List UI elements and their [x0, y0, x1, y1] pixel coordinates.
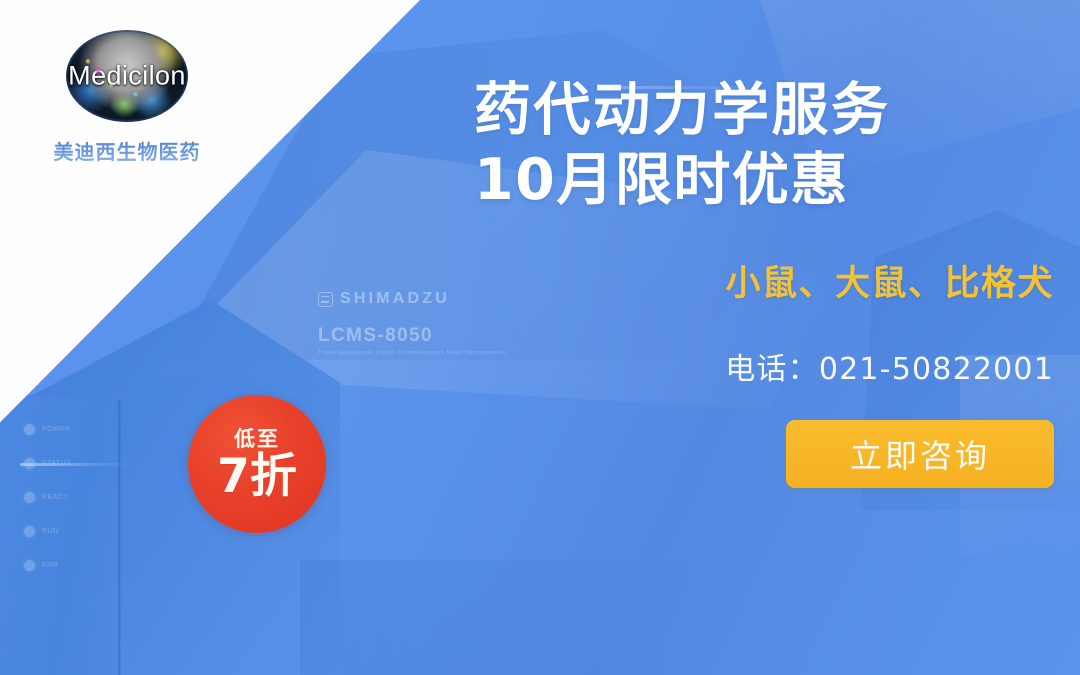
- shimadzu-logo-icon: [318, 292, 333, 307]
- cta-wrapper: 立即咨询: [474, 420, 1054, 488]
- indicator-lamp-2: READY: [24, 492, 68, 503]
- logo-wordmark: Medicilon: [66, 61, 188, 92]
- headline-line-1: 药代动力学服务: [474, 76, 1054, 146]
- phone-line: 电话：021-50822001: [474, 344, 1054, 388]
- discount-badge-top-text: 低至: [234, 429, 280, 450]
- company-name-cn: 美迪西生物医药: [34, 136, 220, 165]
- instrument-brand-name: SHIMADZU: [340, 290, 450, 308]
- species-subline: 小鼠、大鼠、比格犬: [474, 255, 1054, 306]
- lamp-dot-icon: [24, 560, 35, 571]
- lamp-label: STATUS: [42, 460, 71, 467]
- discount-badge-main-text: 7折: [217, 453, 297, 500]
- lamp-label: POWER: [42, 426, 70, 433]
- lamp-dot-icon: [24, 526, 35, 537]
- lamp-label: READY: [42, 494, 68, 501]
- indicator-lamp-1: STATUS: [24, 458, 71, 469]
- lamp-dot-icon: [24, 458, 35, 469]
- promo-banner: POWER STATUS READY RUN ERR SHIMADZU LCMS…: [0, 0, 1080, 675]
- instrument-left-tower: [0, 395, 120, 675]
- discount-badge: 低至 7折: [188, 395, 326, 533]
- promo-copy-block: 药代动力学服务 10月限时优惠 小鼠、大鼠、比格犬 电话：021-5082200…: [474, 76, 1054, 488]
- headline: 药代动力学服务 10月限时优惠: [474, 76, 1054, 215]
- lamp-label: ERR: [42, 562, 58, 569]
- medicilon-logo-icon: Medicilon: [66, 30, 188, 122]
- brand-logo-block: Medicilon 美迪西生物医药: [34, 30, 220, 165]
- lamp-dot-icon: [24, 424, 35, 435]
- instrument-bottom-facet: [300, 560, 720, 675]
- headline-line-2: 10月限时优惠: [474, 146, 1054, 216]
- lamp-label: RUN: [42, 528, 58, 535]
- indicator-lamp-4: ERR: [24, 560, 58, 571]
- indicator-lamp-0: POWER: [24, 424, 70, 435]
- lamp-dot-icon: [24, 492, 35, 503]
- indicator-lamp-3: RUN: [24, 526, 58, 537]
- consult-now-button[interactable]: 立即咨询: [786, 420, 1054, 488]
- instrument-panel-seam: [118, 400, 122, 675]
